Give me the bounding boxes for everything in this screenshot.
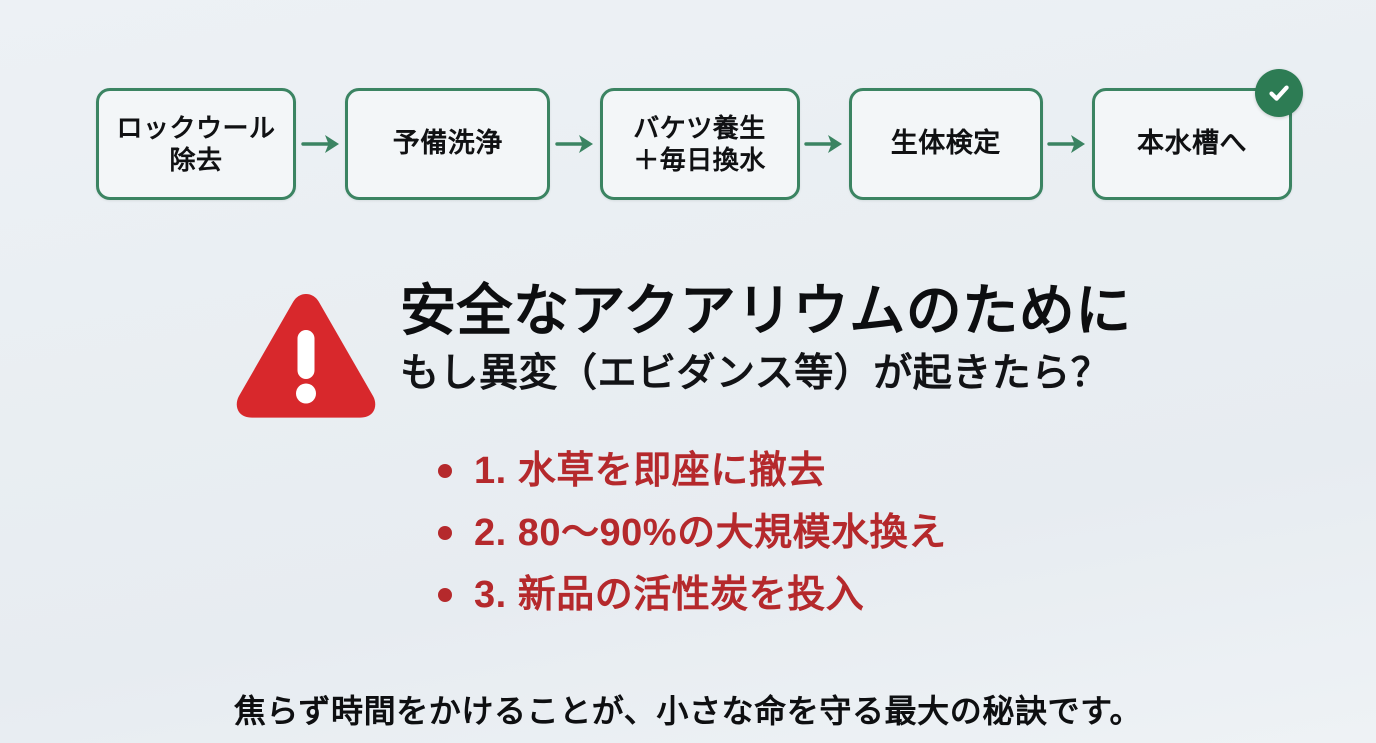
alert-section: 安全なアクアリウムのために もし異変（エビダンス等）が起きたら？	[232, 280, 1232, 430]
footer-note: 焦らず時間をかけることが、小さな命を守る最大の秘訣です。	[0, 686, 1376, 732]
list-item: 2. 80〜90%の大規模水換え	[438, 504, 947, 562]
flow-step-2-label: 予備洗浄	[387, 127, 509, 160]
bullet-dot-icon	[438, 526, 452, 540]
list-item-label: 2. 80〜90%の大規模水換え	[474, 514, 947, 552]
flow-step-1-label: ロックウール 除去	[110, 112, 281, 176]
list-item-label: 3. 新品の活性炭を投入	[474, 576, 864, 614]
check-circle-icon	[1255, 69, 1303, 117]
flow-step-3[interactable]: バケツ養生 ＋毎日換水	[600, 88, 800, 200]
page-title: 安全なアクアリウムのために	[400, 280, 1132, 343]
flow-step-2[interactable]: 予備洗浄	[345, 88, 550, 200]
arrow-right-icon-2	[553, 127, 597, 161]
flow-step-5-label: 本水槽へ	[1131, 127, 1253, 160]
emergency-action-list: 1. 水草を即座に撤去 2. 80〜90%の大規模水換え 3. 新品の活性炭を投…	[438, 442, 947, 628]
list-item: 1. 水草を即座に撤去	[438, 442, 947, 500]
alert-subtitle: もし異変（エビダンス等）が起きたら？	[400, 351, 1132, 398]
list-item-label: 1. 水草を即座に撤去	[474, 452, 826, 490]
flow-step-3-label: バケツ養生 ＋毎日換水	[627, 112, 772, 176]
arrow-right-icon-1	[299, 127, 343, 161]
arrow-right-icon-4	[1045, 127, 1089, 161]
process-flow: ロックウール 除去 予備洗浄 バケツ養生 ＋毎日換水 生体検定	[96, 84, 1292, 204]
flow-step-4-label: 生体検定	[885, 127, 1007, 160]
alert-text-group: 安全なアクアリウムのために もし異変（エビダンス等）が起きたら？	[400, 280, 1132, 398]
flow-step-4[interactable]: 生体検定	[849, 88, 1043, 200]
list-item: 3. 新品の活性炭を投入	[438, 566, 947, 624]
flow-step-5[interactable]: 本水槽へ	[1092, 88, 1292, 200]
bullet-dot-icon	[438, 464, 452, 478]
arrow-right-icon-3	[802, 127, 846, 161]
flow-step-1[interactable]: ロックウール 除去	[96, 88, 296, 200]
warning-triangle-icon	[232, 288, 380, 422]
bullet-dot-icon	[438, 588, 452, 602]
